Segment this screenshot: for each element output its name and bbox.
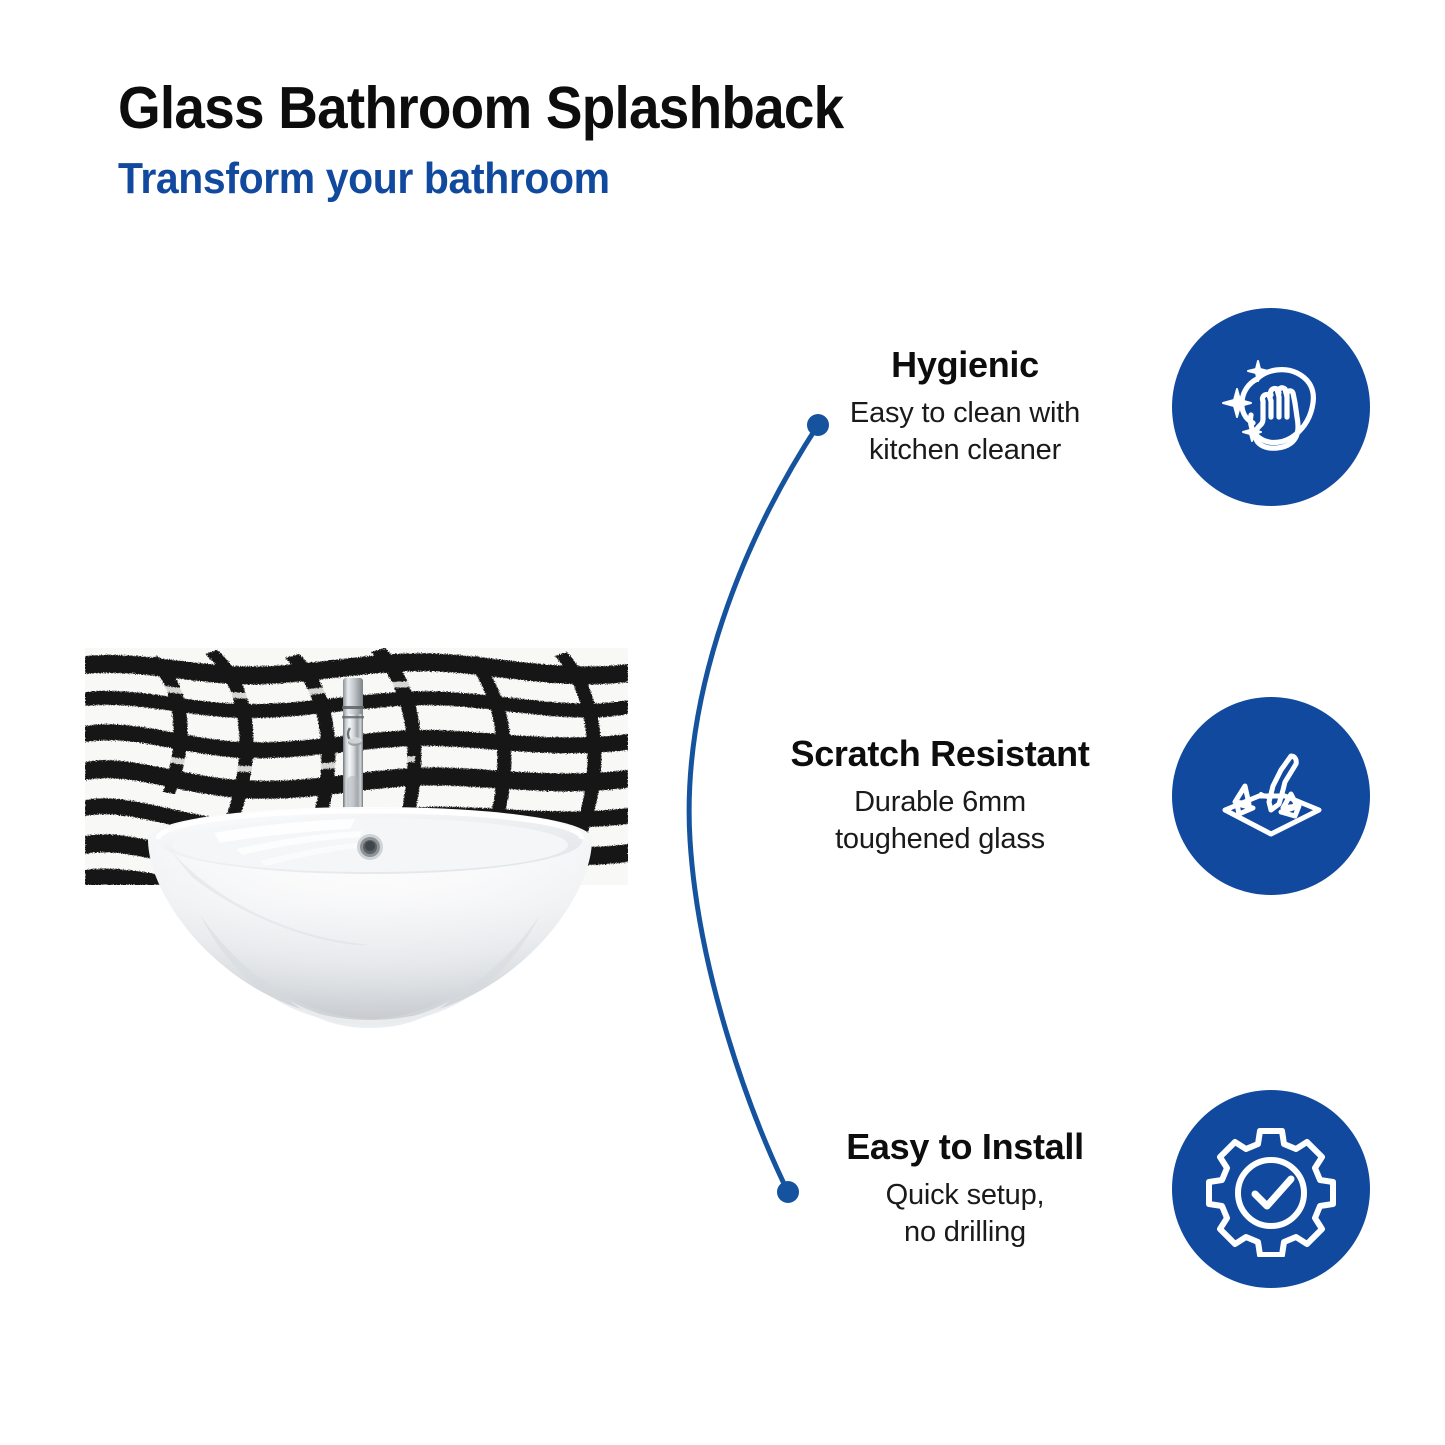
feature-scratch-resistant: Scratch Resistant Durable 6mm toughened … bbox=[750, 697, 1370, 895]
hygienic-glyph bbox=[1209, 345, 1333, 469]
feature-title: Easy to Install bbox=[800, 1127, 1130, 1167]
feature-desc-line-2: kitchen cleaner bbox=[800, 432, 1130, 469]
connector-dot-bottom bbox=[777, 1181, 799, 1203]
hand-wiping-cloth-sparkle-icon bbox=[1172, 308, 1370, 506]
feature-desc-line-1: Easy to clean with bbox=[800, 395, 1130, 432]
feature-desc-line-2: no drilling bbox=[800, 1214, 1130, 1251]
basin bbox=[140, 795, 600, 1030]
feature-text-block: Easy to Install Quick setup, no drilling bbox=[800, 1127, 1130, 1251]
feature-desc-line-1: Durable 6mm bbox=[750, 784, 1130, 821]
feature-easy-to-install: Easy to Install Quick setup, no drilling bbox=[800, 1090, 1370, 1288]
feature-text-block: Scratch Resistant Durable 6mm toughened … bbox=[750, 734, 1130, 858]
feature-desc-line-1: Quick setup, bbox=[800, 1177, 1130, 1214]
knife-scratch-surface-icon bbox=[1172, 697, 1370, 895]
feature-description: Durable 6mm toughened glass bbox=[750, 784, 1130, 858]
feature-description: Quick setup, no drilling bbox=[800, 1177, 1130, 1251]
feature-desc-line-2: toughened glass bbox=[750, 821, 1130, 858]
basin-icon bbox=[140, 795, 600, 1030]
feature-hygienic: Hygienic Easy to clean with kitchen clea… bbox=[800, 308, 1370, 506]
scratch-glyph bbox=[1209, 734, 1333, 858]
feature-title: Scratch Resistant bbox=[750, 734, 1130, 774]
feature-title: Hygienic bbox=[800, 345, 1130, 385]
feature-description: Easy to clean with kitchen cleaner bbox=[800, 395, 1130, 469]
feature-text-block: Hygienic Easy to clean with kitchen clea… bbox=[800, 345, 1130, 469]
gear-checkmark-icon bbox=[1172, 1090, 1370, 1288]
infographic-page: Glass Bathroom Splashback Transform your… bbox=[0, 0, 1445, 1445]
install-glyph bbox=[1203, 1121, 1339, 1257]
product-image bbox=[0, 0, 700, 1445]
